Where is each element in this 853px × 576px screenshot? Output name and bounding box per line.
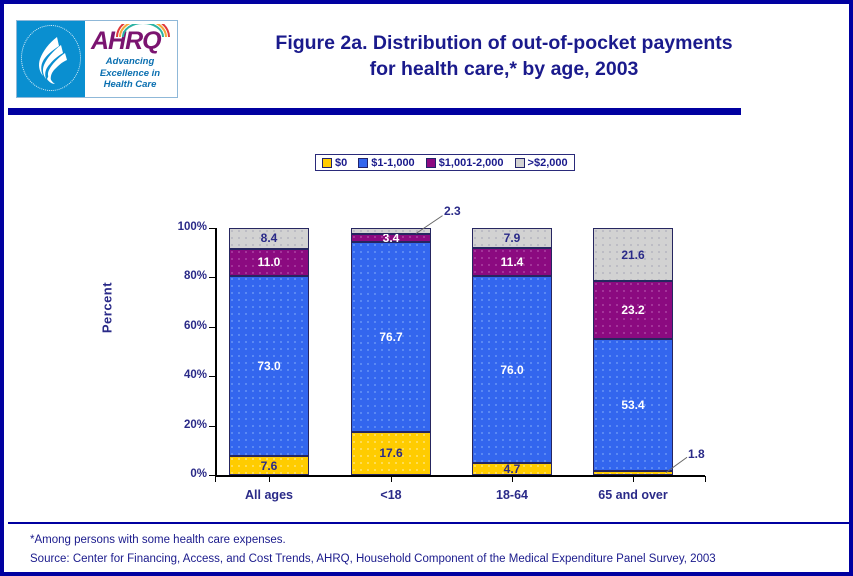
bar-stack-3[interactable]: 53.423.221.6 [593, 228, 673, 475]
callout-label-65plus-zero: 1.8 [688, 447, 705, 461]
x-axis-end-tick-0 [215, 476, 216, 482]
y-axis-tick-label-5: 100% [159, 222, 207, 234]
chart-plot-area: Percent 0%20%40%60%80%100% 7.673.011.08.… [4, 4, 849, 576]
bar-value-label-1-2: 3.4 [383, 232, 400, 244]
bar-segment-1-2[interactable]: 3.4 [351, 234, 431, 242]
bar-segment-0-2[interactable]: 11.0 [229, 249, 309, 276]
y-axis-tick-label-3: 60% [159, 321, 207, 333]
bar-value-label-0-1: 73.0 [257, 360, 280, 372]
bar-segment-0-3[interactable]: 8.4 [229, 228, 309, 249]
bar-value-label-1-0: 17.6 [379, 447, 402, 459]
bar-segment-1-1[interactable]: 76.7 [351, 242, 431, 431]
bar-stack-0[interactable]: 7.673.011.08.4 [229, 228, 309, 475]
x-axis-tick-mark-3 [633, 476, 634, 482]
bar-value-label-2-0: 4.7 [504, 463, 521, 475]
bar-segment-3-1[interactable]: 53.4 [593, 339, 673, 471]
bar-stack-2[interactable]: 4.776.011.47.9 [472, 228, 552, 475]
bar-value-label-2-3: 7.9 [504, 232, 521, 244]
bar-value-label-3-3: 21.6 [621, 249, 644, 261]
y-axis-tick-label-1: 20% [159, 420, 207, 432]
slide-canvas: AHRQ Advancing Excellence in Health Care… [0, 0, 853, 576]
callout-label-lt18-over2000: 2.3 [444, 204, 461, 218]
footnote-text: *Among persons with some health care exp… [30, 531, 830, 550]
bar-value-label-2-2: 11.4 [501, 256, 524, 268]
y-axis-title: Percent [100, 253, 115, 363]
bar-segment-3-2[interactable]: 23.2 [593, 281, 673, 338]
bar-value-label-0-3: 8.4 [261, 232, 278, 244]
x-axis-tick-mark-2 [512, 476, 513, 482]
y-axis-tick-label-0: 0% [159, 469, 207, 481]
x-axis-end-tick-1 [705, 476, 706, 482]
bar-value-label-3-1: 53.4 [621, 399, 644, 411]
bar-stack-1[interactable]: 17.676.73.4 [351, 228, 431, 475]
x-axis-line [215, 475, 705, 477]
bar-value-label-1-1: 76.7 [379, 331, 402, 343]
bar-segment-2-2[interactable]: 11.4 [472, 248, 552, 276]
y-axis-tick-label-2: 40% [159, 370, 207, 382]
bar-value-label-0-2: 11.0 [258, 256, 281, 268]
bar-segment-3-3[interactable]: 21.6 [593, 228, 673, 281]
bar-segment-2-3[interactable]: 7.9 [472, 228, 552, 248]
slide-footer: *Among persons with some health care exp… [30, 531, 830, 569]
source-text: Source: Center for Financing, Access, an… [30, 550, 830, 569]
bar-segment-0-0[interactable]: 7.6 [229, 456, 309, 475]
bar-segment-2-0[interactable]: 4.7 [472, 463, 552, 475]
bar-segment-0-1[interactable]: 73.0 [229, 276, 309, 456]
x-axis-category-label-1: <18 [321, 488, 461, 502]
y-axis-tick-label-4: 80% [159, 271, 207, 283]
x-axis-category-label-2: 18-64 [442, 488, 582, 502]
footer-divider [8, 522, 849, 524]
bar-segment-2-1[interactable]: 76.0 [472, 276, 552, 464]
bar-segment-3-0[interactable] [593, 471, 673, 475]
x-axis-tick-mark-0 [269, 476, 270, 482]
bar-segment-1-0[interactable]: 17.6 [351, 432, 431, 475]
x-axis-category-label-3: 65 and over [563, 488, 703, 502]
y-axis-line [215, 228, 217, 476]
bar-value-label-3-2: 23.2 [621, 304, 644, 316]
bar-value-label-2-1: 76.0 [500, 364, 523, 376]
x-axis-category-label-0: All ages [199, 488, 339, 502]
x-axis-tick-mark-1 [391, 476, 392, 482]
bar-value-label-0-0: 7.6 [261, 460, 278, 472]
